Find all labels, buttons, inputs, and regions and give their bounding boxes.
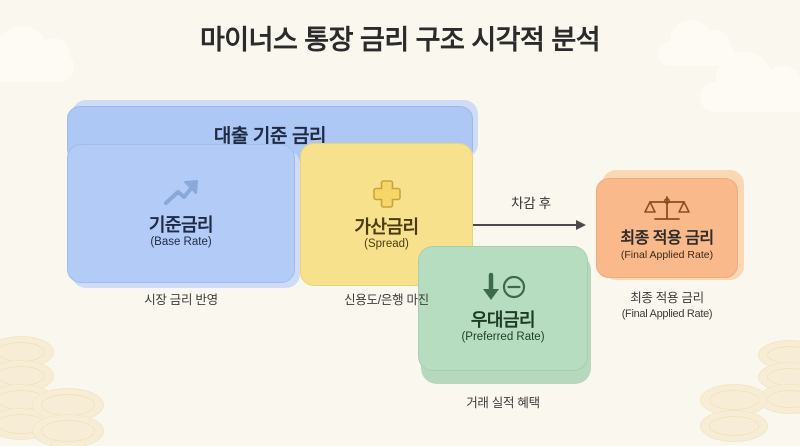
caption-base-rate: 시장 금리 반영 [67, 292, 295, 309]
cloud-icon-right-lower [700, 82, 800, 112]
coin-icon [32, 414, 104, 446]
card-spread-title: 가산금리 [354, 217, 418, 238]
caption-spread: 신용도/은행 마진 [300, 292, 473, 309]
card-base-rate[interactable]: 기준금리 (Base Rate) [67, 144, 295, 283]
card-final-subtitle: (Final Applied Rate) [621, 249, 713, 262]
card-spread-subtitle: (Spread) [364, 238, 409, 252]
diagram-canvas: 마이너스 통장 금리 구조 시각적 분석 대출 기준 금리 가산금리 (Spre… [0, 0, 800, 446]
arrow-right-icon [473, 219, 591, 231]
card-base-subtitle: (Base Rate) [150, 236, 211, 250]
card-final-applied-rate[interactable]: 최종 적용 금리 (Final Applied Rate) [596, 178, 738, 278]
card-preferred-subtitle: (Preferred Rate) [461, 331, 544, 345]
caption-preferred-rate: 거래 실적 혜택 [418, 395, 588, 412]
caption-final-en: (Final Applied Rate) [596, 307, 738, 322]
card-final-title: 최종 적용 금리 [620, 230, 713, 248]
card-preferred-title: 우대금리 [471, 310, 535, 331]
page-title: 마이너스 통장 금리 구조 시각적 분석 [0, 18, 800, 57]
connector-label: 차감 후 [471, 192, 591, 212]
caption-final-applied-rate: 최종 적용 금리 (Final Applied Rate) [596, 290, 738, 322]
arrow-down-minus-icon [478, 272, 528, 304]
caption-final-ko: 최종 적용 금리 [630, 291, 704, 305]
connector-arrow: 차감 후 [471, 192, 591, 232]
trending-up-icon [161, 177, 201, 209]
balance-scale-icon [644, 194, 690, 224]
card-base-title: 기준금리 [149, 215, 213, 236]
coin-icon [700, 410, 768, 442]
plus-icon [370, 177, 404, 211]
